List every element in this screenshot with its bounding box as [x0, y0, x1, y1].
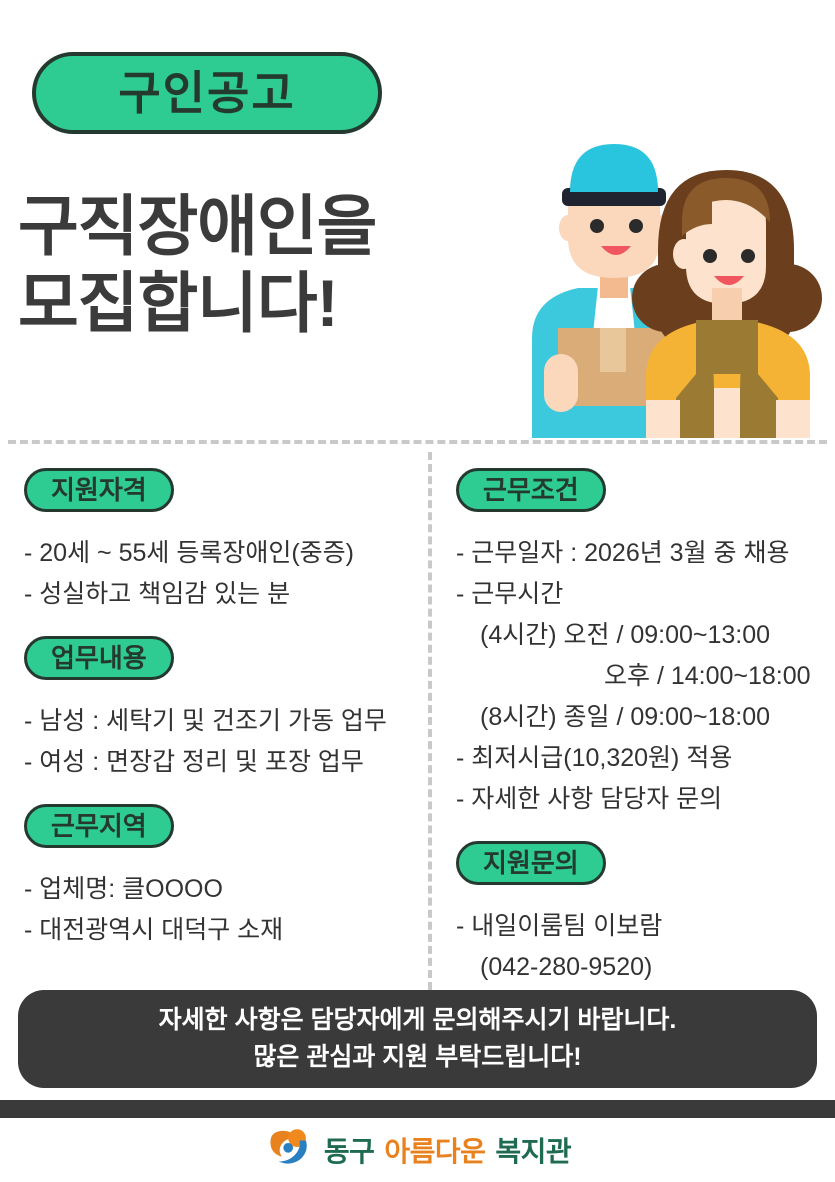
headline: 구직장애인을 모집합니다! — [18, 188, 538, 341]
logo-text-beautiful: 아름다운 — [384, 1130, 485, 1170]
section-work-location: 근무지역 - 업체명: 클OOOO - 대전광역시 대덕구 소재 — [24, 804, 414, 946]
logo-text-dong: 동구 — [324, 1130, 375, 1170]
heart-swirl-logo-icon — [264, 1126, 314, 1173]
section-pill-label: 근무조건 — [483, 477, 579, 503]
list-item: - 업체명: 클OOOO — [24, 873, 414, 905]
job-posting-poster: 구인공고 구직장애인을 모집합니다! — [0, 0, 835, 1182]
section-pill-label: 업무내용 — [51, 645, 147, 671]
poster-title-badge: 구인공고 — [32, 52, 382, 134]
section-pill-qualifications: 지원자격 — [24, 468, 174, 512]
list-item: (8시간) 종일 / 09:00~18:00 — [456, 701, 828, 733]
left-column: 지원자격 - 20세 ~ 55세 등록장애인(중증) - 성실하고 책임감 있는… — [24, 468, 414, 972]
section-pill-duties: 업무내용 — [24, 636, 174, 680]
footer-dark-strip — [0, 1100, 835, 1118]
list-item: - 남성 : 세탁기 및 건조기 가동 업무 — [24, 705, 414, 737]
section-work-conditions: 근무조건 - 근무일자 : 2026년 3월 중 채용 - 근무시간 (4시간)… — [456, 468, 828, 815]
list-item: (4시간) 오전 / 09:00~13:00 — [456, 619, 828, 651]
footer-notice-banner: 자세한 사항은 담당자에게 문의해주시기 바랍니다. 많은 관심과 지원 부탁드… — [18, 990, 817, 1088]
right-column: 근무조건 - 근무일자 : 2026년 3월 중 채용 - 근무시간 (4시간)… — [456, 468, 828, 1009]
two-workers-illustration — [500, 138, 835, 438]
list-item: - 성실하고 책임감 있는 분 — [24, 578, 414, 610]
headline-line-2: 모집합니다! — [18, 265, 538, 342]
section-pill-label: 지원문의 — [483, 850, 579, 876]
footer-notice-line-1: 자세한 사항은 담당자에게 문의해주시기 바랍니다. — [159, 1002, 677, 1040]
section-qualifications: 지원자격 - 20세 ~ 55세 등록장애인(중증) - 성실하고 책임감 있는… — [24, 468, 414, 610]
footer-notice-line-2: 많은 관심과 지원 부탁드립니다! — [253, 1039, 581, 1077]
organization-logo: 동구 아름다운 복지관 — [0, 1126, 835, 1173]
list-item: - 20세 ~ 55세 등록장애인(중증) — [24, 537, 414, 569]
list-item: - 여성 : 면장갑 정리 및 포장 업무 — [24, 746, 414, 778]
section-duties: 업무내용 - 남성 : 세탁기 및 건조기 가동 업무 - 여성 : 면장갑 정… — [24, 636, 414, 778]
section-pill-label: 지원자격 — [51, 477, 147, 503]
list-item: - 최저시급(10,320원) 적용 — [456, 742, 828, 774]
section-pill-work-conditions: 근무조건 — [456, 468, 606, 512]
poster-title-label: 구인공고 — [118, 70, 295, 116]
section-pill-application-contact: 지원문의 — [456, 841, 606, 885]
list-item: - 대전광역시 대덕구 소재 — [24, 914, 414, 946]
section-pill-work-location: 근무지역 — [24, 804, 174, 848]
vertical-dashed-divider — [428, 452, 432, 990]
contact-phone: (042-280-9520) — [456, 951, 828, 983]
logo-text-welfare-center: 복지관 — [495, 1130, 571, 1170]
section-application-contact: 지원문의 - 내일이룸팀 이보람 (042-280-9520) — [456, 841, 828, 983]
headline-line-1: 구직장애인을 — [18, 188, 538, 265]
list-item: - 자세한 사항 담당자 문의 — [456, 783, 828, 815]
list-item: 오후 / 14:00~18:00 — [456, 660, 828, 692]
list-item: - 근무시간 — [456, 578, 828, 610]
list-item: - 근무일자 : 2026년 3월 중 채용 — [456, 537, 828, 569]
section-pill-label: 근무지역 — [51, 813, 147, 839]
horizontal-dashed-divider — [8, 440, 827, 444]
list-item: - 내일이룸팀 이보람 — [456, 910, 828, 942]
